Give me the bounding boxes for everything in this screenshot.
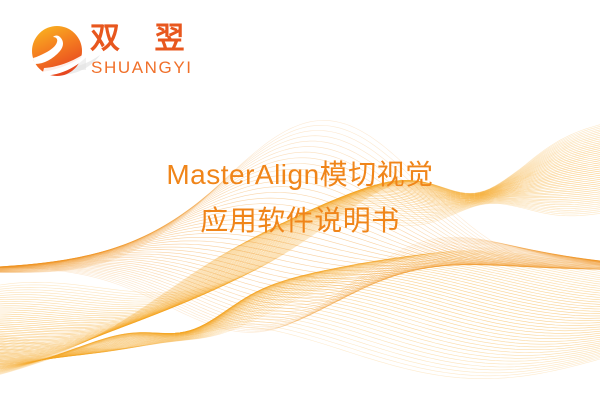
- brand-logo: 双 翌 SHUANGYI: [30, 22, 260, 88]
- swan-bird-circle-logo-icon: [30, 24, 84, 78]
- title-line-1: MasterAlign模切视觉: [0, 152, 600, 198]
- brand-wordmark: 双 翌 SHUANGYI: [90, 22, 260, 86]
- brand-name-en: SHUANGYI: [91, 58, 193, 78]
- title-line-2: 应用软件说明书: [0, 198, 600, 244]
- page-title: MasterAlign模切视觉 应用软件说明书: [0, 152, 600, 244]
- cover-page: 双 翌 SHUANGYI MasterAlign模切视觉 应用软件说明书: [0, 0, 600, 400]
- brand-name-cn: 双 翌: [90, 21, 196, 57]
